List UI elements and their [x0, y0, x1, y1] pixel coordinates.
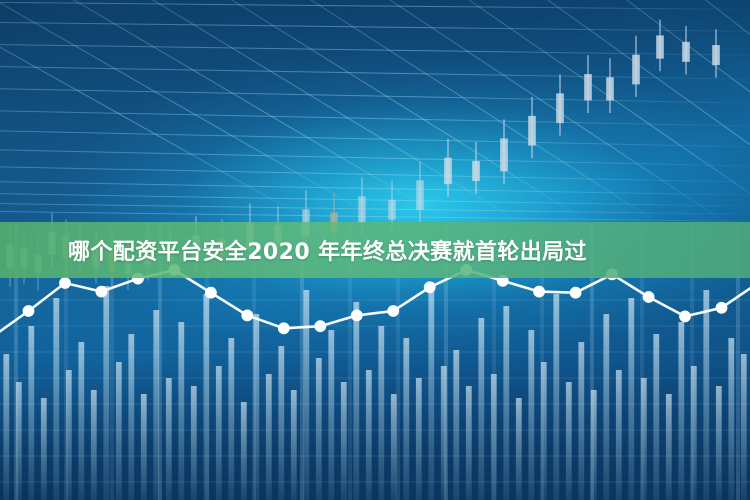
headline-band: 哪个配资平台安全2020 年年终总决赛就首轮出局过: [0, 222, 750, 278]
banner-image: 哪个配资平台安全2020 年年终总决赛就首轮出局过: [0, 0, 750, 500]
headline-text: 哪个配资平台安全2020 年年终总决赛就首轮出局过: [68, 234, 587, 266]
